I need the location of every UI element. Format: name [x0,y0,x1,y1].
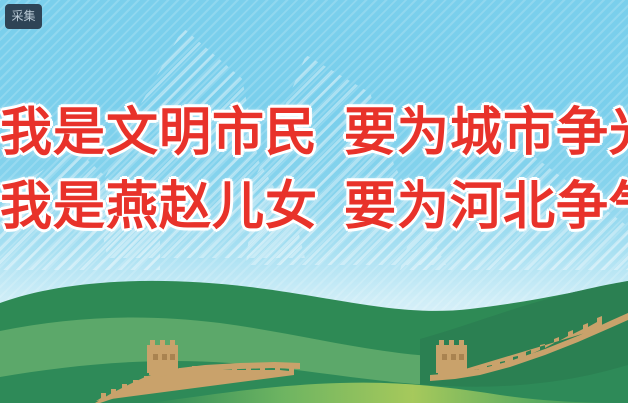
slogan-line-1: 我是文明市民要为城市争光 [0,96,628,170]
wall-right-tower-window-1 [442,354,447,360]
slogan-line-2-part-1: 我是燕赵儿女 [0,178,318,236]
capture-badge[interactable]: 采集 [5,4,42,29]
slogan-line-2-part-2: 要为河北争气 [344,178,628,236]
wall-right-tower-window-3 [459,354,464,360]
slogan-banner: 我是文明市民要为城市争光 我是燕赵儿女要为河北争气 采集 [0,0,628,403]
wall-right-tower-window-2 [451,354,456,360]
wall-left-tower-window-2 [162,354,167,360]
hill-landscape [0,273,628,403]
slogan-text-block: 我是文明市民要为城市争光 我是燕赵儿女要为河北争气 [0,96,628,244]
slogan-line-1-part-1: 我是文明市民 [0,104,318,162]
wall-left-tower-body [149,349,177,375]
wall-left-tower-window-3 [170,354,175,360]
wall-right-tower-body [438,349,466,375]
slogan-line-1-part-2: 要为城市争光 [344,104,628,162]
wall-left-tower-window-1 [153,354,158,360]
slogan-line-2: 我是燕赵儿女要为河北争气 [0,170,628,244]
